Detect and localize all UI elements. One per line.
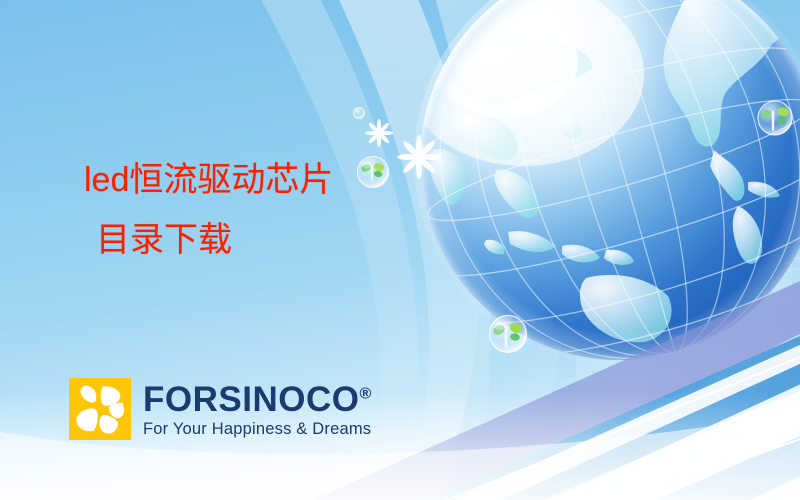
- globe-latitude-lines: [409, 0, 800, 370]
- globe-continents: [428, 0, 792, 363]
- pinwheel-petals: [76, 386, 124, 434]
- logo-text-block: FORSINOCO® For Your Happiness & Dreams: [143, 378, 372, 438]
- headline-text: led恒流驱动芯片 目录下载: [84, 163, 333, 257]
- headline-line-1: led恒流驱动芯片: [84, 163, 333, 197]
- forsinoco-pinwheel-mark: [69, 378, 131, 440]
- logo-tagline: For Your Happiness & Dreams: [143, 421, 372, 438]
- company-logo[interactable]: FORSINOCO® For Your Happiness & Dreams: [69, 378, 372, 440]
- promo-banner: led恒流驱动芯片 目录下载: [0, 0, 800, 500]
- flower-sparkle-small: [365, 119, 393, 147]
- wordmark-text: FORSINOCO: [143, 380, 359, 419]
- city-skyline-silhouette: [600, 156, 800, 326]
- flower-sparkle-large: [397, 135, 441, 179]
- bubble-sprout-right: [758, 101, 792, 135]
- corner-ribbons: [180, 236, 800, 500]
- bubble-plain-top: [354, 108, 365, 119]
- earth-globe: [394, 0, 800, 401]
- registered-trademark-icon: ®: [359, 385, 371, 402]
- logo-wordmark: FORSINOCO®: [143, 382, 372, 417]
- bubble-sprout-upper: [358, 157, 389, 188]
- globe-longitude-lines: [394, 0, 800, 401]
- headline-line-2: 目录下载: [96, 223, 333, 257]
- bubble-sprout-lower: [490, 316, 527, 353]
